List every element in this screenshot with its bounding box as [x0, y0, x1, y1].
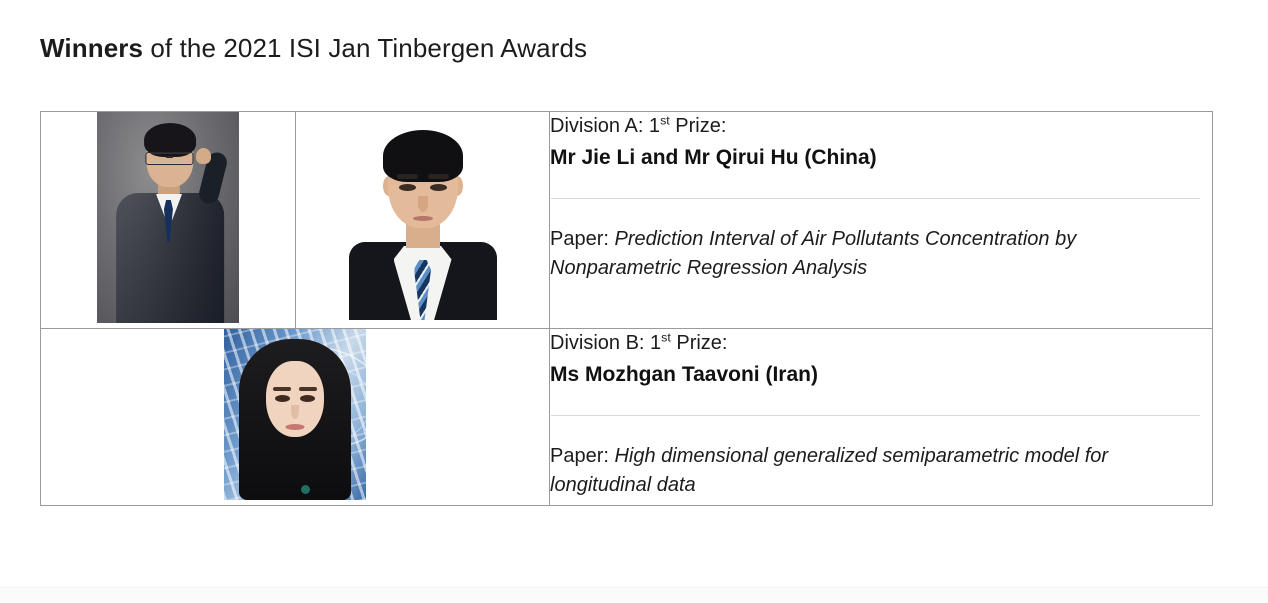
prize-suffix-a: Prize: — [670, 115, 727, 137]
page-title: Winners of the 2021 ISI Jan Tinbergen Aw… — [40, 31, 587, 65]
division-prize-line-a: Division A: 1st Prize: — [550, 112, 1212, 141]
paper-label-a: Paper: — [550, 228, 614, 250]
photo-cell-mozhgan-taavoni — [41, 329, 550, 506]
ordinal-suffix-a: st — [660, 113, 670, 127]
cell-divider-b — [551, 415, 1200, 416]
cell-divider-a — [551, 198, 1200, 199]
paper-line-b: Paper: High dimensional generalized semi… — [550, 442, 1212, 500]
prize-suffix-b: Prize: — [671, 332, 728, 354]
paper-line-a: Paper: Prediction Interval of Air Pollut… — [550, 225, 1212, 283]
division-prize-line-b: Division B: 1st Prize: — [550, 329, 1212, 358]
photo-cell-jie-li — [41, 112, 296, 329]
paper-label-b: Paper: — [550, 445, 614, 467]
winners-table: Division A: 1st Prize: Mr Jie Li and Mr … — [40, 111, 1213, 506]
division-label-b: Division B: 1 — [550, 332, 661, 354]
photo-cell-qirui-hu — [296, 112, 550, 329]
award-info-division-b: Division B: 1st Prize: Ms Mozhgan Taavon… — [550, 329, 1213, 506]
ordinal-suffix-b: st — [661, 330, 671, 344]
page-bottom-band — [0, 587, 1268, 603]
paper-title-b: High dimensional generalized semiparamet… — [550, 445, 1108, 496]
table-row: Division B: 1st Prize: Ms Mozhgan Taavon… — [41, 329, 1213, 506]
award-info-division-a: Division A: 1st Prize: Mr Jie Li and Mr … — [550, 112, 1213, 329]
portrait-jie-li — [97, 112, 239, 323]
portrait-qirui-hu — [349, 112, 497, 320]
portrait-mozhgan-taavoni — [224, 329, 366, 500]
division-label-a: Division A: 1 — [550, 115, 660, 137]
winner-name-b: Ms Mozhgan Taavoni (Iran) — [550, 360, 1212, 390]
winner-name-a: Mr Jie Li and Mr Qirui Hu (China) — [550, 143, 1212, 173]
page-title-bold: Winners — [40, 33, 143, 63]
paper-title-a: Prediction Interval of Air Pollutants Co… — [550, 228, 1076, 279]
table-row: Division A: 1st Prize: Mr Jie Li and Mr … — [41, 112, 1213, 329]
page-title-rest: of the 2021 ISI Jan Tinbergen Awards — [143, 33, 587, 63]
